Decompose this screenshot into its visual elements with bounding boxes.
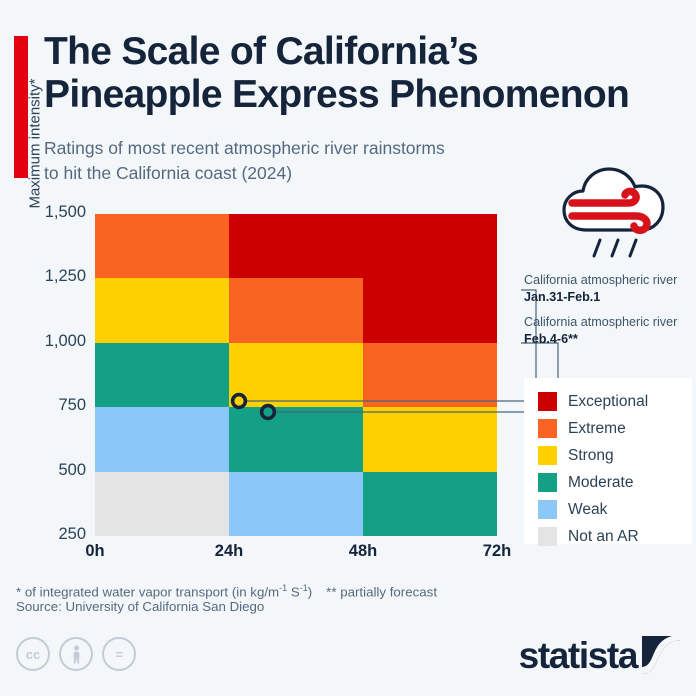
creative-commons-icons: cc = [16,637,136,671]
no-derivatives-icon[interactable]: = [102,637,136,671]
annotation-2-prefix: California atmospheric river [524,315,677,329]
legend-swatch [538,419,557,438]
heatmap-cell [95,407,229,471]
legend-label: Weak [568,501,607,519]
annotation-label-2: California atmospheric river Feb.4-6** [524,314,694,347]
heatmap-plot [95,214,497,536]
subtitle-line-2: to hit the California coast (2024) [44,163,292,183]
annotation-1-emphasis: Jan.31-Feb.1 [524,290,600,304]
annotation-1-prefix: California atmospheric river [524,273,677,287]
heatmap-cell [229,407,363,471]
y-axis-tick-label: 500 [12,461,86,480]
infographic-root: The Scale of California’s Pineapple Expr… [0,0,696,696]
heatmap-cell [229,472,363,536]
y-axis-tick-label: 750 [12,396,86,415]
legend-item[interactable]: Strong [538,442,692,469]
legend-label: Exceptional [568,393,648,411]
heatmap-cell [95,214,229,278]
legend-item[interactable]: Moderate [538,469,692,496]
footnote-end-text: ) [308,584,312,599]
footnote-doublestar-text: ** partially forecast [326,584,437,599]
legend-swatch [538,500,557,519]
legend-item[interactable]: Weak [538,496,692,523]
cloud-wind-rain-icon [556,158,668,266]
heatmap-cell [229,278,363,342]
statista-wordmark: statista [519,637,637,674]
legend-item[interactable]: Extreme [538,415,692,442]
footnote-mid-text: S [287,584,300,599]
heatmap-cell [229,214,363,278]
heatmap-cell [229,343,363,407]
x-axis-tick-label: 48h [328,542,398,561]
legend-item[interactable]: Not an AR [538,523,692,550]
page-subtitle: Ratings of most recent atmospheric river… [44,136,604,186]
legend-swatch [538,392,557,411]
source-text: Source: University of California San Die… [16,599,264,614]
legend-item[interactable]: Exceptional [538,388,692,415]
subtitle-line-1: Ratings of most recent atmospheric river… [44,138,445,158]
heatmap-cell [363,278,497,342]
annotation-2-emphasis: Feb.4-6** [524,332,578,346]
legend-label: Strong [568,447,614,465]
legend-swatch [538,473,557,492]
footnote-sup-2: -1 [300,583,308,593]
person-glyph [70,645,83,664]
y-axis-tick-label: 1,250 [12,267,86,286]
legend: ExceptionalExtremeStrongModerateWeakNot … [524,378,692,544]
footnote-star-text: * of integrated water vapor transport (i… [16,584,279,599]
heatmap-cell [363,472,497,536]
legend-label: Moderate [568,474,633,492]
legend-swatch [538,527,557,546]
heatmap-cell [363,214,497,278]
legend-label: Extreme [568,420,626,438]
heatmap-cell [363,407,497,471]
heatmap-cell [95,472,229,536]
attribution-icon[interactable] [59,637,93,671]
cc-icon[interactable]: cc [16,637,50,671]
statista-logo: statista [519,636,680,674]
annotation-label-1: California atmospheric river Jan.31-Feb.… [524,272,694,305]
y-axis-tick-label: 1,500 [12,203,86,222]
footnote-sup-1: -1 [279,583,287,593]
x-axis-tick-label: 0h [60,542,130,561]
heatmap-grid [95,214,497,536]
heatmap-cell [95,278,229,342]
heatmap-cell [95,343,229,407]
x-axis-tick-label: 24h [194,542,264,561]
heatmap-cell [363,343,497,407]
legend-swatch [538,446,557,465]
y-axis-tick-label: 1,000 [12,332,86,351]
legend-label: Not an AR [568,528,639,546]
x-axis-tick-label: 72h [462,542,532,561]
title-line-1: The Scale of California’s [44,30,478,73]
statista-mark-icon [642,636,680,674]
page-title: The Scale of California’s Pineapple Expr… [44,30,684,116]
title-line-2: Pineapple Express Phenomenon [44,73,684,116]
